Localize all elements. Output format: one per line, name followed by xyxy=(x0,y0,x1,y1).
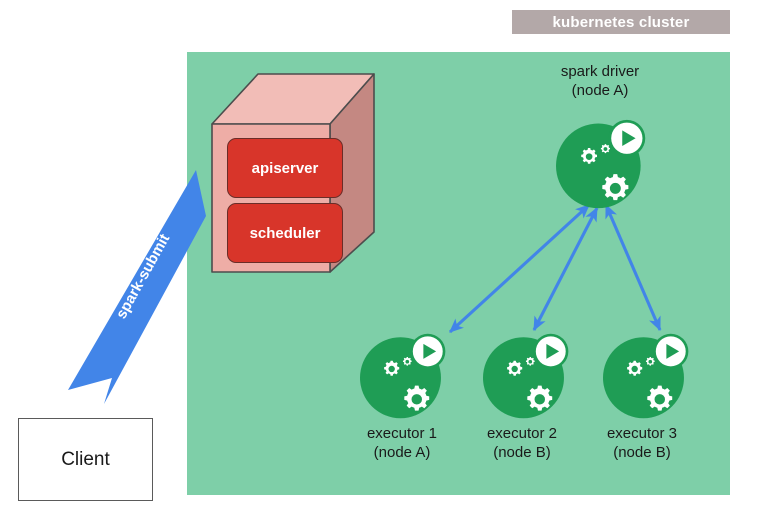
scheduler-component[interactable]: scheduler xyxy=(227,203,343,263)
client-label: Client xyxy=(61,449,110,471)
spark-submit-arrow xyxy=(68,170,206,404)
executor-3-label: executor 3 (node B) xyxy=(562,424,722,462)
executor-1-node[interactable] xyxy=(360,334,445,418)
connector-driver-executor-1 xyxy=(450,205,589,332)
apiserver-component[interactable]: apiserver xyxy=(227,138,343,198)
spark-driver-label: spark driver (node A) xyxy=(520,62,680,100)
control-plane-components: apiserver scheduler xyxy=(205,62,385,284)
spark-driver-node[interactable] xyxy=(556,120,645,208)
diagram-canvas: kubernetes cluster xyxy=(0,0,761,516)
driver-executor-connectors xyxy=(450,205,660,332)
executor-2-node[interactable] xyxy=(483,334,568,418)
connector-driver-executor-3 xyxy=(606,205,660,330)
executor-3-node[interactable] xyxy=(603,334,688,418)
client-box[interactable]: Client xyxy=(18,418,153,501)
